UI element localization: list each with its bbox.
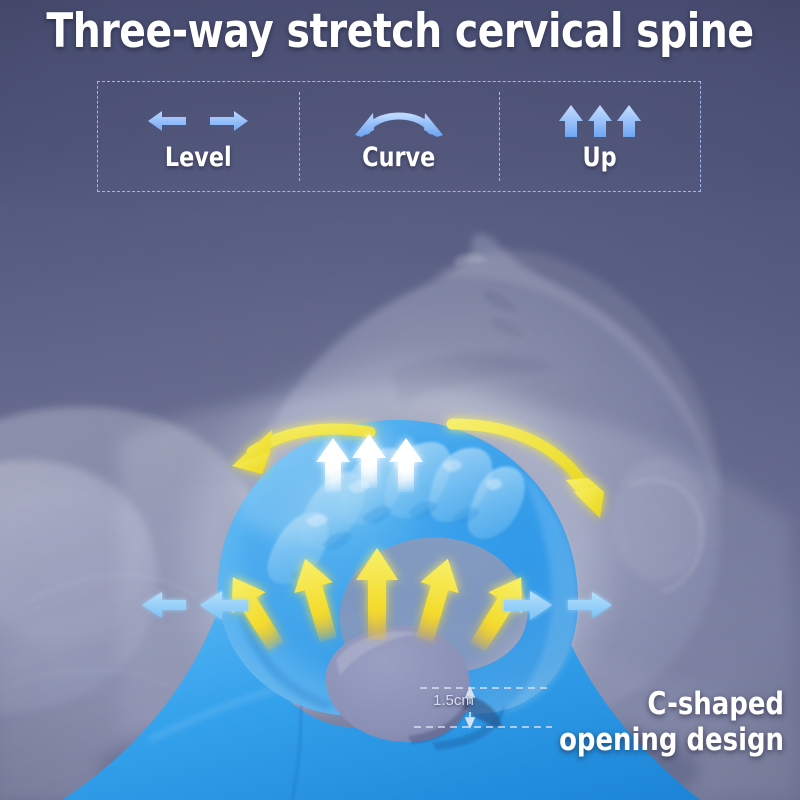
side-arrows-left: [142, 591, 248, 620]
caption-line-2: opening design: [486, 722, 784, 758]
white-up-arrows: [316, 434, 423, 492]
curved-arrow-left: [232, 429, 370, 474]
caption-line-1: C-shaped: [486, 686, 784, 722]
product-caption: C-shaped opening design: [486, 686, 784, 758]
product-marketing-image: Three-way stretch cervical spine: [0, 0, 800, 800]
curved-arrow-right: [452, 424, 604, 518]
dimension-label: 1.5cm: [433, 692, 474, 709]
yellow-fan-arrows: [216, 548, 538, 657]
direction-arrows-overlay: [0, 0, 800, 800]
